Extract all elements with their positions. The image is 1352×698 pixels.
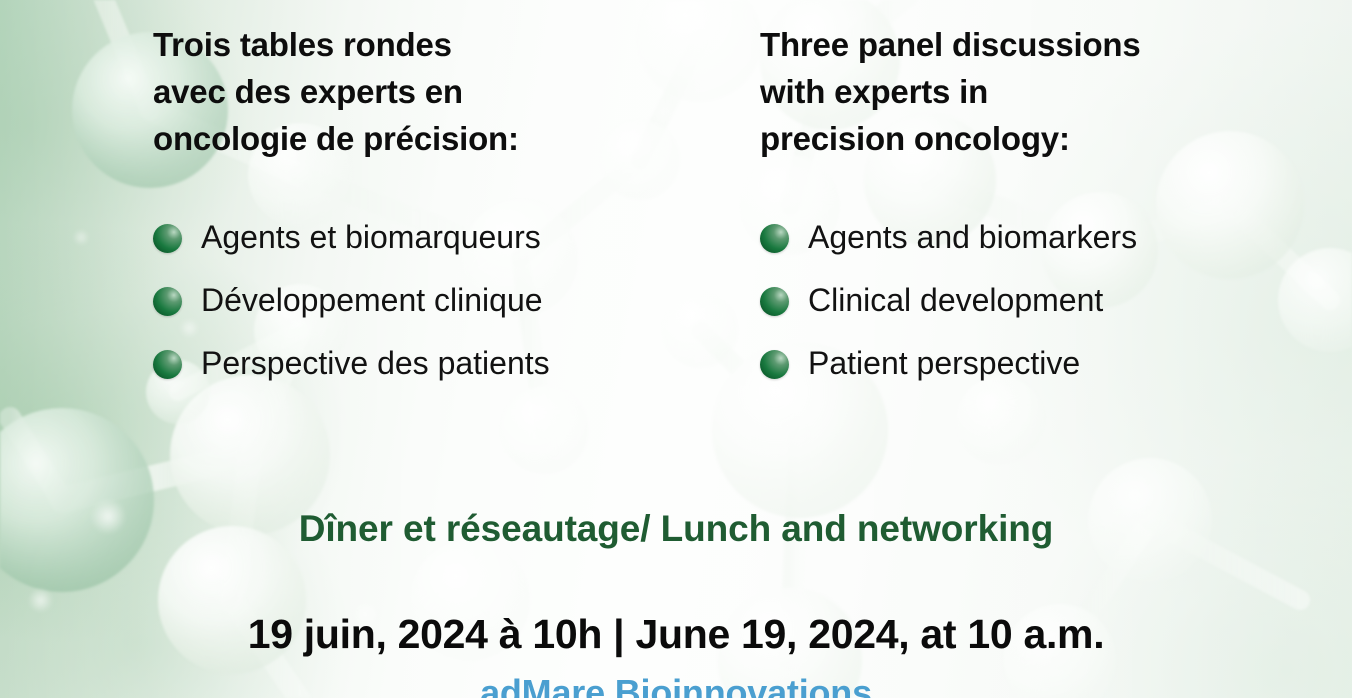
bullet-label: Agents et biomarqueurs [201, 220, 541, 255]
event-date-line: 19 juin, 2024 à 10h | June 19, 2024, at … [0, 611, 1352, 658]
column-english: Three panel discussions with experts in … [760, 22, 1280, 396]
bullet-label: Perspective des patients [201, 346, 550, 381]
bullet-sphere-icon [760, 350, 789, 379]
column-french: Trois tables rondes avec des experts en … [153, 22, 713, 396]
poster-canvas: Trois tables rondes avec des experts en … [0, 0, 1352, 698]
bullet-sphere-icon [760, 287, 789, 316]
bullet-label: Patient perspective [808, 346, 1080, 381]
list-item: Perspective des patients [153, 333, 713, 396]
bullet-sphere-icon [153, 350, 182, 379]
list-item: Agents and biomarkers [760, 207, 1280, 270]
list-item: Clinical development [760, 270, 1280, 333]
bullet-list-english: Agents and biomarkers Clinical developme… [760, 207, 1280, 396]
heading-french: Trois tables rondes avec des experts en … [153, 22, 713, 163]
bullet-sphere-icon [153, 287, 182, 316]
bullet-label: Développement clinique [201, 283, 543, 318]
heading-english: Three panel discussions with experts in … [760, 22, 1280, 163]
bullet-sphere-icon [760, 224, 789, 253]
venue-line: adMare Bioinnovations [0, 672, 1352, 698]
poster-content: Trois tables rondes avec des experts en … [0, 0, 1352, 698]
bullet-label: Agents and biomarkers [808, 220, 1137, 255]
lunch-networking-line: Dîner et réseautage/ Lunch and networkin… [0, 508, 1352, 550]
bullet-list-french: Agents et biomarqueurs Développement cli… [153, 207, 713, 396]
bullet-label: Clinical development [808, 283, 1103, 318]
list-item: Patient perspective [760, 333, 1280, 396]
list-item: Développement clinique [153, 270, 713, 333]
list-item: Agents et biomarqueurs [153, 207, 713, 270]
bullet-sphere-icon [153, 224, 182, 253]
